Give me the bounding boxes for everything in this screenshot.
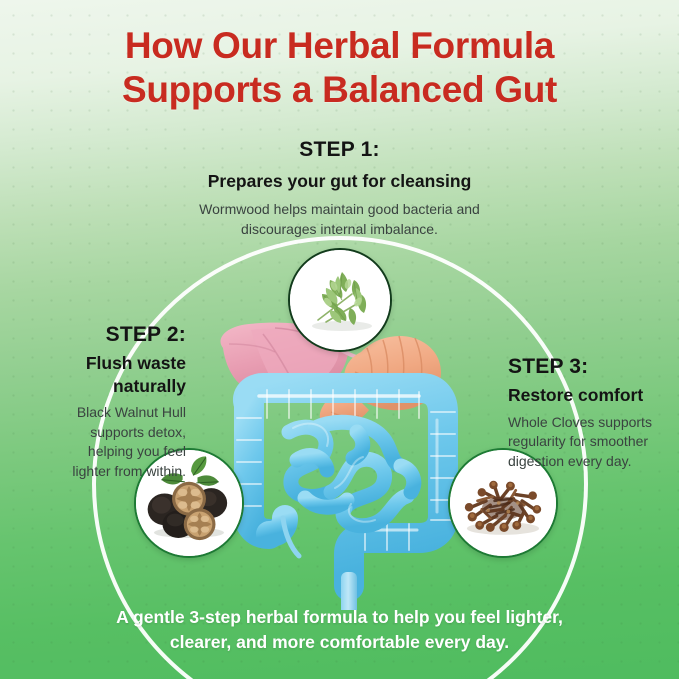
step-2-body-line-1: Black Walnut Hull	[10, 403, 186, 423]
title-line-1: How Our Herbal Formula	[0, 24, 679, 68]
step-3-body-line-2: regularity for smoother	[508, 432, 679, 452]
step-2-body-line-2: supports detox,	[10, 423, 186, 443]
step-1-body-line-1: Wormwood helps maintain good bacteria an…	[120, 200, 560, 220]
step-2-body: Black Walnut Hull supports detox, helpin…	[10, 403, 186, 481]
step-3-body-line-1: Whole Cloves supports	[508, 413, 679, 433]
step-2-heading-line-1: Flush waste	[10, 352, 186, 374]
step-3-body: Whole Cloves supports regularity for smo…	[508, 413, 679, 472]
step-1-body-line-2: discourages internal imbalance.	[120, 220, 560, 240]
infographic-poster: How Our Herbal Formula Supports a Balanc…	[0, 0, 679, 679]
step-2-body-line-3: helping you feel	[10, 442, 186, 462]
step-2-heading: Flush waste naturally	[10, 352, 186, 397]
footer-line-1: A gentle 3-step herbal formula to help y…	[0, 605, 679, 630]
step-3-body-line-3: digestion every day.	[508, 452, 679, 472]
title-line-2: Supports a Balanced Gut	[0, 68, 679, 112]
footer-tagline: A gentle 3-step herbal formula to help y…	[0, 605, 679, 655]
page-title: How Our Herbal Formula Supports a Balanc…	[0, 24, 679, 111]
step-3-label: STEP 3:	[508, 355, 679, 379]
step-3-block: STEP 3: Restore comfort Whole Cloves sup…	[508, 355, 679, 471]
step-2-block: STEP 2: Flush waste naturally Black Waln…	[10, 323, 186, 481]
step-2-body-line-4: lighter from within.	[10, 462, 186, 482]
step-2-label: STEP 2:	[10, 323, 186, 347]
wormwood-herb-icon	[288, 248, 392, 352]
step-3-heading: Restore comfort	[508, 384, 679, 406]
step-2-heading-line-2: naturally	[10, 375, 186, 397]
footer-line-2: clearer, and more comfortable every day.	[0, 630, 679, 655]
step-1-heading: Prepares your gut for cleansing	[120, 170, 560, 193]
step-1-label: STEP 1:	[120, 138, 560, 162]
step-1-body: Wormwood helps maintain good bacteria an…	[120, 200, 560, 240]
step-1-block: STEP 1: Prepares your gut for cleansing …	[120, 138, 560, 240]
